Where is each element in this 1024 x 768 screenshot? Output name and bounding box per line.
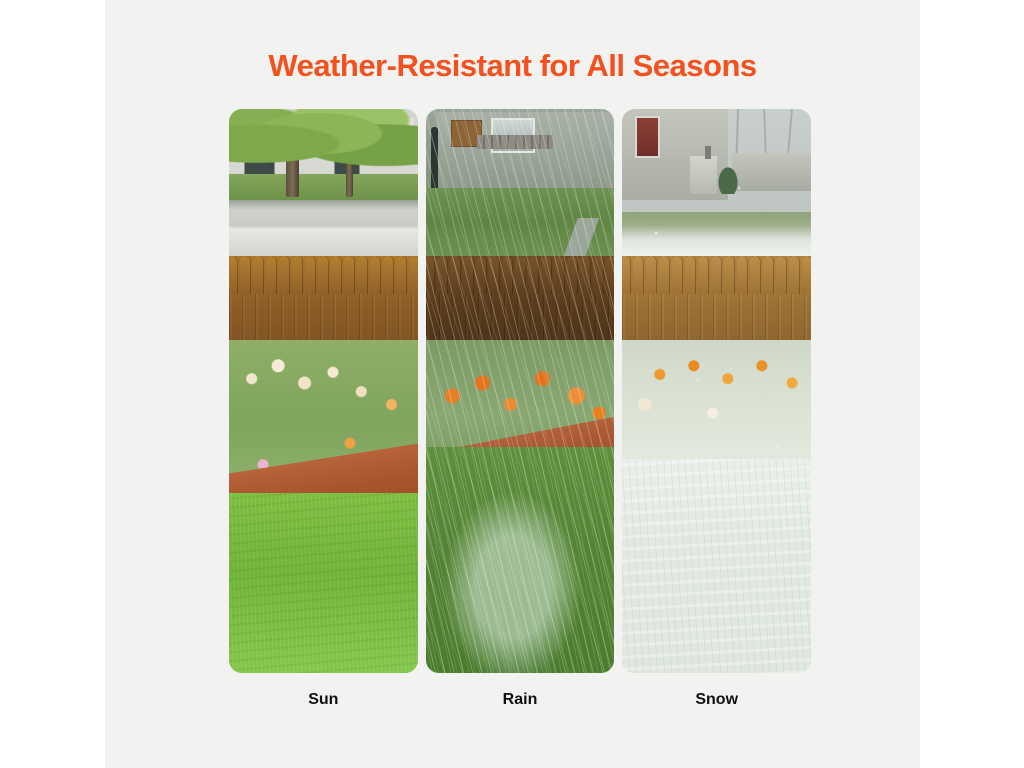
panel-sun[interactable] [229, 109, 418, 673]
label-snow: Snow [622, 690, 811, 718]
comparison-panels [229, 109, 811, 673]
label-sun: Sun [229, 690, 418, 718]
rain-stone-wall [477, 135, 553, 149]
content-card: Weather-Resistant for All Seasons [105, 0, 920, 768]
rain-lamp-post [431, 127, 438, 194]
screenshot-root: Weather-Resistant for All Seasons [0, 0, 1024, 768]
sun-fence-pickets [229, 256, 418, 295]
sun-grass-strip [229, 174, 418, 200]
snow-lawn [622, 459, 811, 673]
snow-shrub [717, 165, 740, 194]
rain-walkway [520, 218, 614, 256]
sun-lawn [229, 493, 418, 673]
snow-background-scene [622, 109, 811, 256]
rain-background-scene [426, 109, 615, 256]
panel-rain[interactable] [426, 109, 615, 673]
snow-pillar [690, 156, 716, 194]
sun-street [229, 200, 418, 256]
rain-fence-pickets [426, 256, 615, 295]
snow-fence-pickets [622, 256, 811, 295]
snow-red-door [635, 116, 660, 158]
rain-lawn [426, 447, 615, 673]
panel-snow[interactable] [622, 109, 811, 673]
snow-background-fence [732, 153, 811, 191]
snow-bare-trees [720, 109, 811, 159]
panel-labels: Sun Rain Snow [229, 690, 811, 718]
snow-lamp [705, 146, 711, 159]
page-title: Weather-Resistant for All Seasons [105, 48, 920, 84]
sun-tree-canopy [229, 109, 418, 171]
label-rain: Rain [426, 690, 615, 718]
sun-background-scene [229, 109, 418, 256]
rain-house [437, 112, 614, 188]
snow-front-ground [622, 212, 811, 256]
